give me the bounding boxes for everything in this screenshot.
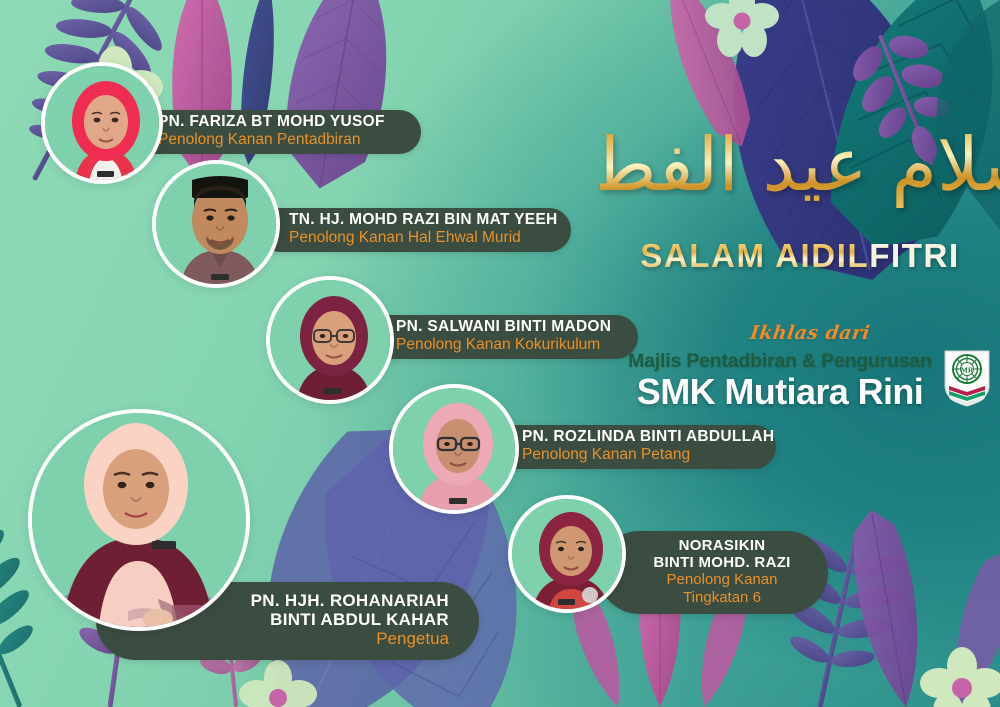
greeting-block: سلام عيد الفطر SALAM AIDILFITRI (600, 95, 1000, 295)
arabic-calligraphy-icon: سلام عيد الفطر (600, 95, 1000, 235)
person-name-mohd-razi: TN. HJ. MOHD RAZI BIN MAT YEEH (289, 211, 558, 229)
person-name-rohanariah-line1: PN. HJH. ROHANARIAH (251, 591, 449, 610)
person-name-rozlinda: PN. ROZLINDA BINTI ABDULLAH (522, 428, 774, 446)
person-name-rohanariah-line2: BINTI ABDUL KAHAR (270, 610, 449, 629)
salam-bold-part: SALAM AIDIL (640, 237, 869, 274)
person-name-norasikin-line1: NORASIKIN (679, 537, 766, 554)
signoff-block: Ikhlas dari Majlis Pentadbiran & Penguru… (620, 322, 1000, 413)
person-name-fariza: PN. FARIZA BT MOHD YUSOF (158, 113, 385, 131)
person-name-norasikin-line2: BINTI MOHD. RAZI (653, 554, 790, 571)
photo-rohanariah (28, 409, 250, 631)
photo-salwani (266, 276, 394, 404)
person-role-rozlinda: Penolong Kanan Petang (522, 446, 690, 464)
flower-top-right (705, 0, 779, 57)
flower-bottom-right (920, 647, 1000, 707)
svg-text:MR: MR (961, 366, 974, 375)
name-pill-fariza: PN. FARIZA BT MOHD YUSOF Penolong Kanan … (128, 110, 421, 154)
person-role-norasikin-line2: Tingkatan 6 (683, 589, 761, 607)
photo-fariza (41, 62, 163, 184)
name-pill-salwani: PN. SALWANI BINTI MADON Penolong Kanan K… (363, 315, 638, 359)
flower-bottom-left (239, 660, 317, 707)
aidilfitri-greeting-poster: PN. FARIZA BT MOHD YUSOF Penolong Kanan … (0, 0, 1000, 707)
person-role-fariza: Penolong Kanan Pentadbiran (158, 131, 361, 149)
ikhlas-dari-label: Ikhlas dari (618, 322, 1000, 344)
school-name: SMK Mutiara Rini (628, 373, 932, 412)
name-pill-mohd-razi: TN. HJ. MOHD RAZI BIN MAT YEEH Penolong … (258, 208, 571, 252)
name-pill-rozlinda: PN. ROZLINDA BINTI ABDULLAH Penolong Kan… (489, 425, 776, 469)
photo-mohd-razi (152, 160, 280, 288)
person-role-norasikin-line1: Penolong Kanan (667, 571, 778, 589)
photo-rozlinda (389, 384, 519, 514)
person-role-rohanariah: Pengetua (376, 629, 449, 649)
salam-light-part: FITRI (869, 237, 959, 274)
person-name-salwani: PN. SALWANI BINTI MADON (396, 318, 611, 336)
salam-aidilfitri-heading: SALAM AIDILFITRI (600, 237, 1000, 275)
person-role-salwani: Penolong Kanan Kokurikulum (396, 336, 600, 354)
school-crest-icon: MR (942, 348, 992, 413)
person-role-mohd-razi: Penolong Kanan Hal Ehwal Murid (289, 229, 521, 247)
majlis-label: Majlis Pentadbiran & Pengurusan (628, 350, 932, 373)
name-pill-norasikin: NORASIKIN BINTI MOHD. RAZI Penolong Kana… (598, 531, 828, 614)
photo-norasikin (508, 495, 626, 613)
